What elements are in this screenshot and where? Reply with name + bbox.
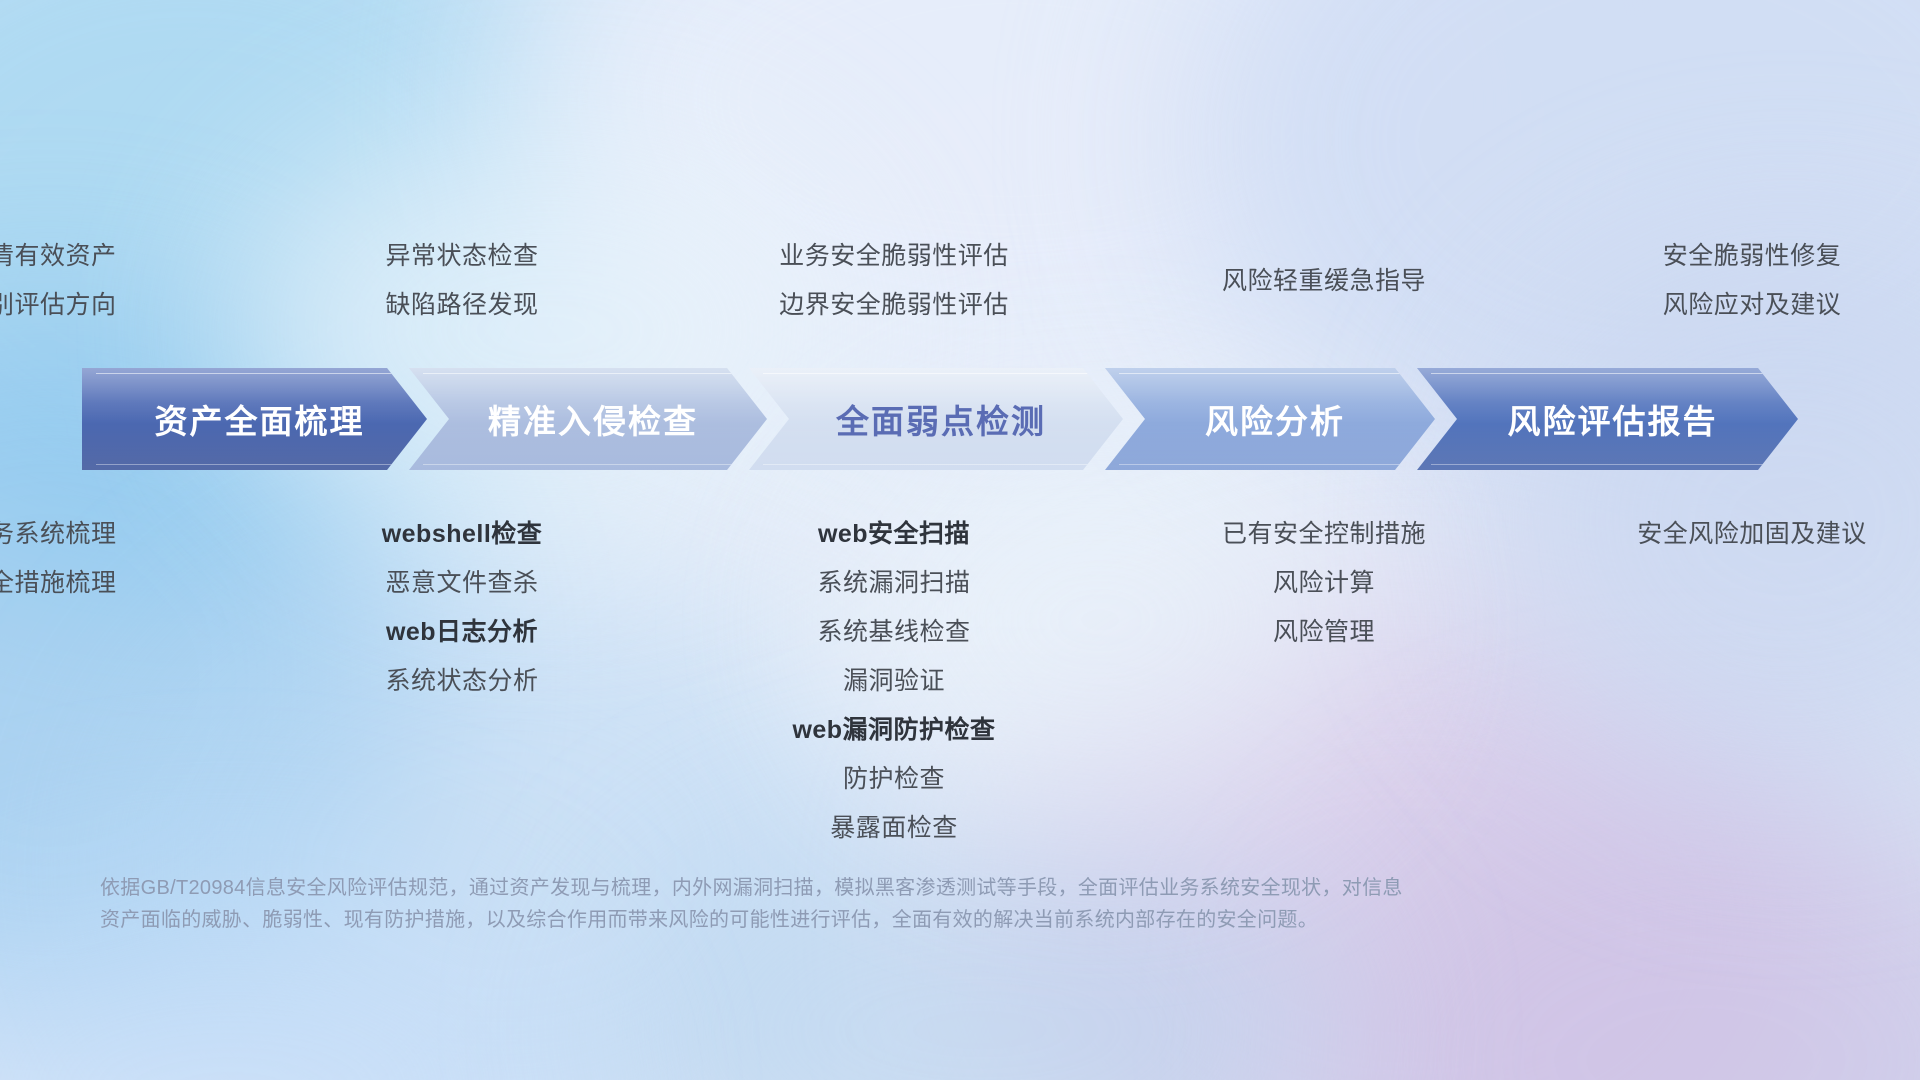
stage-tasks-risk-analysis: 已有安全控制措施 风险计算 风险管理 (1132, 510, 1516, 853)
stage-output-note: 边界安全脆弱性评估 (779, 281, 1009, 330)
stage-task-item: 恶意文件查杀 (385, 559, 538, 608)
stage-title: 资产全面梳理 (145, 395, 365, 443)
stage-output-note: 业务安全脆弱性评估 (779, 232, 1009, 281)
stage-tasks-asset: 业务系统梳理 安全措施梳理 (0, 510, 232, 853)
stage-task-item: 系统漏洞扫描 (817, 559, 970, 608)
stage-task-item: 系统基线检查 (817, 608, 970, 657)
stage-chevron-asset[interactable]: 资产全面梳理 (82, 368, 427, 470)
stage-tasks-row: 业务系统梳理 安全措施梳理 webshell检查 恶意文件查杀 web日志分析 … (0, 510, 1920, 853)
chevron-bottom-highlight (423, 464, 753, 465)
stage-title: 风险分析 (1195, 395, 1345, 443)
stage-task-item: 风险管理 (1273, 608, 1375, 657)
stage-task-item: 风险计算 (1273, 559, 1375, 608)
chevron-top-highlight (96, 373, 413, 374)
stage-output-note: 异常状态检查 (385, 232, 538, 281)
description-paragraph: 依据GB/T20984信息安全风险评估规范，通过资产发现与梳理，内外网漏洞扫描，… (100, 872, 1750, 936)
stage-tasks-weakness: web安全扫描 系统漏洞扫描 系统基线检查 漏洞验证 web漏洞防护检查 防护检… (702, 510, 1086, 853)
stage-output-note: 识别评估方向 (0, 281, 117, 330)
description-line-2: 资产面临的威胁、脆弱性、现有防护措施，以及综合作用而带来风险的可能性进行评估，全… (100, 904, 1750, 936)
chevron-top-highlight (1119, 373, 1421, 374)
description-line-1: 依据GB/T20984信息安全风险评估规范，通过资产发现与梳理，内外网漏洞扫描，… (100, 872, 1750, 904)
stage-task-item: 系统状态分析 (385, 657, 538, 706)
stage-chevron-risk-analysis[interactable]: 风险分析 (1105, 368, 1435, 470)
stage-task-item: webshell检查 (382, 510, 543, 559)
stage-output-note: 理清有效资产 (0, 232, 117, 281)
stage-chevron-report[interactable]: 风险评估报告 (1417, 368, 1798, 470)
chevron-bottom-highlight (96, 464, 413, 465)
stage-outputs-asset: 理清有效资产 识别评估方向 (0, 232, 232, 330)
stage-title: 精准入侵检查 (478, 395, 698, 443)
chevron-bottom-highlight (1119, 464, 1421, 465)
stage-outputs-intrusion: 异常状态检查 缺陷路径发现 (270, 232, 654, 330)
stage-task-item: 防护检查 (843, 755, 945, 804)
stage-outputs-row: 理清有效资产 识别评估方向 异常状态检查 缺陷路径发现 业务安全脆弱性评估 边界… (0, 232, 1920, 330)
stage-outputs-risk-analysis: 风险轻重缓急指导 (1132, 232, 1516, 330)
stage-output-note: 风险应对及建议 (1663, 281, 1842, 330)
stage-tasks-report: 安全风险加固及建议 (1560, 510, 1920, 853)
stage-output-note: 安全脆弱性修复 (1663, 232, 1842, 281)
chevron-top-highlight (763, 373, 1109, 374)
stage-task-item: 已有安全控制措施 (1222, 510, 1426, 559)
stage-tasks-intrusion: webshell检查 恶意文件查杀 web日志分析 系统状态分析 (270, 510, 654, 853)
chevron-top-highlight (1431, 373, 1784, 374)
stage-task-item: web日志分析 (386, 608, 538, 657)
stage-output-note: 缺陷路径发现 (385, 281, 538, 330)
stage-output-note: 风险轻重缓急指导 (1222, 232, 1426, 330)
process-diagram: 理清有效资产 识别评估方向 异常状态检查 缺陷路径发现 业务安全脆弱性评估 边界… (0, 0, 1920, 1080)
stage-task-item: 漏洞验证 (843, 657, 945, 706)
stage-task-item: 业务系统梳理 (0, 510, 117, 559)
stage-task-item: 安全风险加固及建议 (1637, 510, 1867, 559)
stage-title: 全面弱点检测 (826, 395, 1046, 443)
chevron-bottom-highlight (1431, 464, 1784, 465)
stage-chevron-intrusion[interactable]: 精准入侵检查 (409, 368, 767, 470)
stage-task-item: 安全措施梳理 (0, 559, 117, 608)
stage-task-item: web安全扫描 (818, 510, 970, 559)
stage-outputs-weakness: 业务安全脆弱性评估 边界安全脆弱性评估 (702, 232, 1086, 330)
chevron-bottom-highlight (763, 464, 1109, 465)
chevron-top-highlight (423, 373, 753, 374)
stage-chevron-band: 资产全面梳理 精准入侵检查 全面弱点检测 风险分析 风险评估报告 (82, 368, 1834, 470)
stage-outputs-report: 安全脆弱性修复 风险应对及建议 (1560, 232, 1920, 330)
stage-task-item: 暴露面检查 (830, 804, 958, 853)
stage-title: 风险评估报告 (1498, 395, 1718, 443)
stage-task-item: web漏洞防护检查 (792, 706, 995, 755)
stage-chevron-weakness[interactable]: 全面弱点检测 (749, 368, 1123, 470)
